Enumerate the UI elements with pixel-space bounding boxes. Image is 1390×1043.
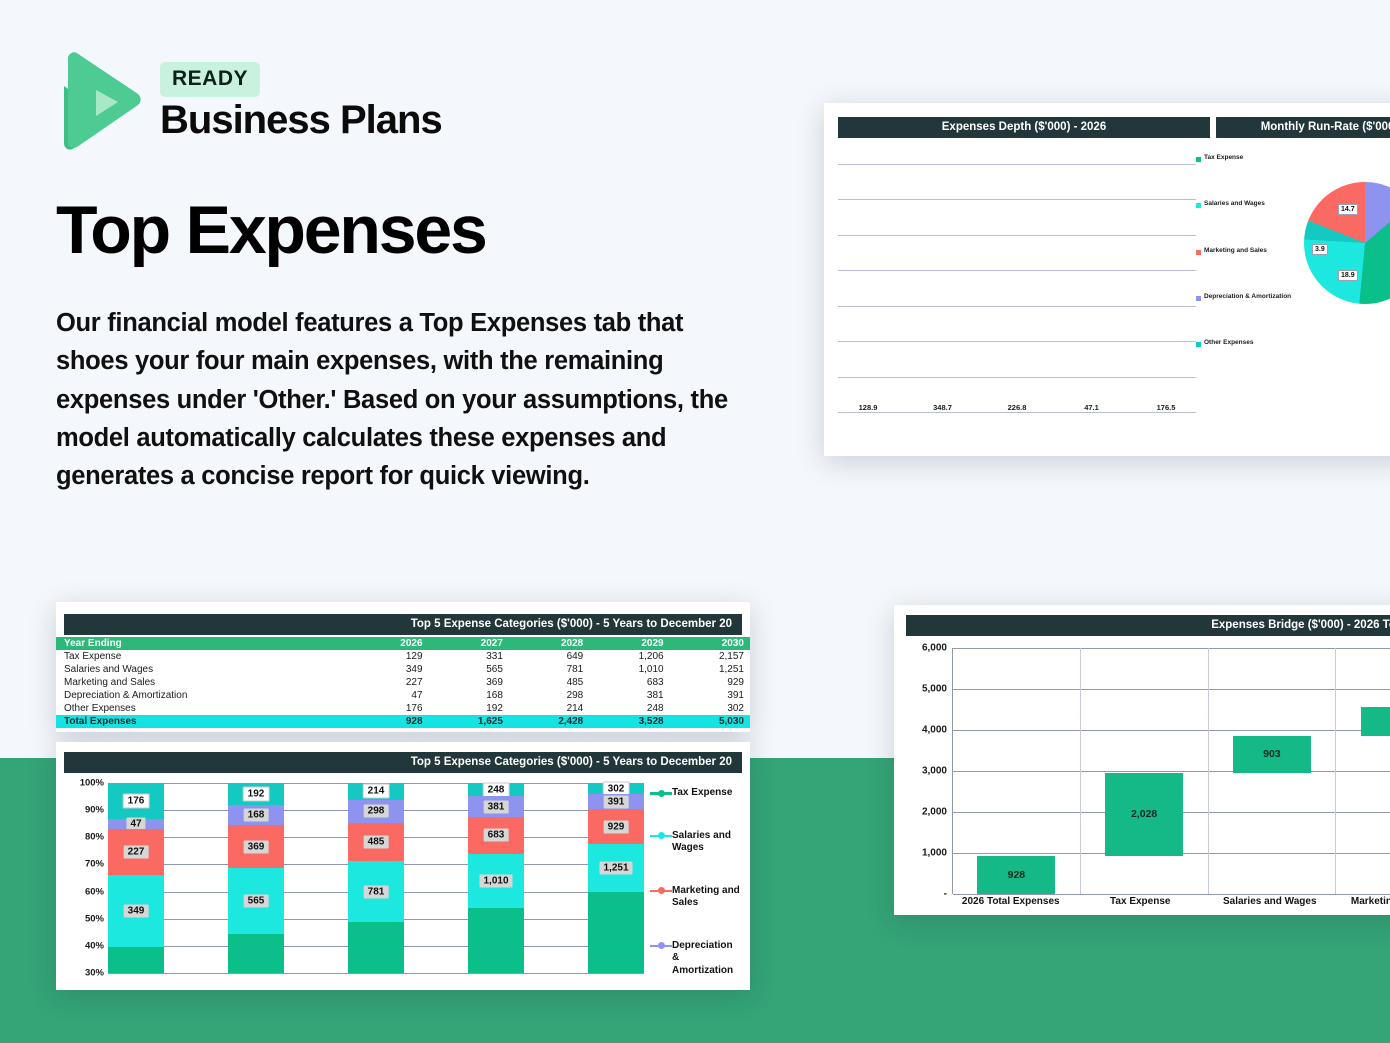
cell-value: 331 (429, 650, 509, 663)
cell-value: 47 (354, 689, 428, 702)
cell-value: 168 (429, 689, 509, 702)
gridline (953, 894, 1390, 895)
column-header: 2028 (509, 637, 589, 650)
bar-value-label: 2,028 (1131, 808, 1157, 820)
stack-segment-Salaries and Wages: 565 (228, 868, 284, 934)
table-row: Depreciation & Amortization4716829838139… (56, 689, 750, 702)
stacked-column-2027: 192168369565 (228, 783, 284, 973)
legend-swatch-icon (1196, 342, 1201, 347)
table-row: Tax Expense1293316491,2062,157 (56, 650, 750, 663)
segment-value-label: 214 (363, 784, 390, 799)
stack-segment-Tax Expense (468, 908, 524, 973)
cell-value: 683 (589, 676, 669, 689)
cell-value: 649 (509, 650, 589, 663)
stack-segment-Depreciation & Amortization: 47 (108, 819, 164, 829)
hero-description: Our financial model features a Top Expen… (56, 304, 746, 495)
bar-series: 128.9348.7226.847.1176.5 (838, 164, 1196, 412)
expenses-depth-card: Expenses Depth ($'000) - 2026 Monthly Ru… (824, 103, 1390, 456)
total-value: 928 (354, 715, 428, 728)
panel-title-row: Expenses Depth ($'000) - 2026 Monthly Ru… (824, 117, 1390, 138)
legend-swatch-icon (1196, 296, 1201, 301)
top5-table-title: Top 5 Expense Categories ($'000) - 5 Yea… (64, 614, 742, 635)
legend-item-2: Marketing and Sales (1196, 247, 1294, 256)
top5-expense-table-card: Top 5 Expense Categories ($'000) - 5 Yea… (56, 602, 750, 732)
stack-segment-Depreciation & Amortization: 391 (588, 794, 644, 809)
column-header: 2030 (670, 637, 750, 650)
stacked-columns: 1764722734919216836956521429848578124838… (108, 783, 644, 973)
legend-swatch-icon (1196, 203, 1201, 208)
bridge-title: Expenses Bridge ($'000) - 2026 Total Exp… (906, 615, 1390, 636)
x-tick-label: 2026 Total Expenses (946, 896, 1076, 907)
table-row: Other Expenses176192214248302 (56, 702, 750, 715)
stacked-plot-area: 1764722734919216836956521429848578124838… (108, 783, 644, 973)
segment-value-label: 485 (364, 836, 389, 849)
legend-marker-icon (650, 940, 672, 952)
segment-value-label: 1,251 (599, 861, 632, 874)
monthly-runrate-pie-chart: 10.7 14.7 3.9 18.9 (1294, 148, 1390, 426)
stack-segment-Other Expenses: 192 (228, 783, 284, 805)
segment-value-label: 349 (124, 904, 149, 917)
row-label: Salaries and Wages (56, 663, 354, 676)
row-label: Depreciation & Amortization (56, 689, 354, 702)
cell-value: 192 (429, 702, 509, 715)
total-value: 3,528 (589, 715, 669, 728)
stack-segment-Other Expenses: 248 (468, 783, 524, 796)
cell-value: 349 (354, 663, 428, 676)
page-title: Top Expenses (56, 196, 756, 264)
ready-badge: READY (160, 62, 260, 97)
bridge-y-axis: 6,0005,0004,0003,0002,0001,000- (900, 648, 952, 894)
cell-value: 929 (670, 676, 750, 689)
stack-segment-Tax Expense (588, 892, 644, 973)
bar-value-label: 903 (1263, 748, 1281, 760)
total-value: 2,428 (509, 715, 589, 728)
total-value: 5,030 (670, 715, 750, 728)
y-tick-label: 4,000 (922, 725, 947, 736)
waterfall-bar: 903 (1233, 736, 1311, 773)
stack-segment-Salaries and Wages: 1,251 (588, 844, 644, 891)
stack-segment-Salaries and Wages: 1,010 (468, 854, 524, 908)
table-body: Tax Expense1293316491,2062,157Salaries a… (56, 650, 750, 728)
legend-item-2: Marketing and Sales (650, 885, 742, 910)
legend-marker-icon (650, 830, 672, 842)
monthly-runrate-title: Monthly Run-Rate ($'000) - (1216, 117, 1390, 138)
table-header-row: Year Ending20262027202820292030 (56, 637, 750, 650)
segment-value-label: 176 (123, 794, 150, 809)
y-tick-label: 2,000 (922, 807, 947, 818)
cell-value: 1,251 (670, 663, 750, 676)
table-total-row: Total Expenses9281,6252,4283,5285,030 (56, 715, 750, 728)
bar-value-label: 348.7 (915, 403, 971, 412)
pie-label-2: 3.9 (1312, 244, 1328, 255)
brand-name: Business Plans (160, 99, 442, 141)
x-tick-label: Tax Expense (1076, 896, 1206, 907)
hero-section: Top Expenses Our financial model feature… (56, 196, 756, 495)
top5-stacked-chart-card: Top 5 Expense Categories ($'000) - 5 Yea… (56, 742, 750, 990)
segment-value-label: 929 (604, 820, 629, 833)
legend-item-1: Salaries and Wages (1196, 200, 1294, 209)
stack-segment-Tax Expense (108, 947, 164, 973)
stack-segment-Depreciation & Amortization: 381 (468, 796, 524, 817)
legend-item-0: Tax Expense (1196, 154, 1294, 163)
cell-value: 391 (670, 689, 750, 702)
segment-value-label: 683 (484, 829, 509, 842)
expenses-depth-bar-chart: 128.9348.7226.847.1176.5 (838, 148, 1196, 426)
gridline (108, 973, 644, 974)
segment-value-label: 369 (244, 840, 269, 853)
segment-value-label: 1,010 (479, 874, 512, 887)
y-tick-label: 90% (85, 805, 104, 816)
expenses-depth-legend: Tax ExpenseSalaries and WagesMarketing a… (1196, 148, 1294, 348)
segment-value-label: 298 (364, 805, 389, 818)
bar-value-label: 47.1 (1064, 403, 1120, 412)
cell-value: 369 (429, 676, 509, 689)
pie-label-3: 18.9 (1338, 270, 1358, 281)
stacked-column-2028: 214298485781 (348, 783, 404, 973)
legend-item-3: Depreciation & Amortization (650, 940, 742, 978)
cell-value: 781 (509, 663, 589, 676)
segment-value-label: 192 (243, 787, 270, 802)
y-tick-label: 70% (85, 859, 104, 870)
waterfall-category-2: 903 (1209, 648, 1337, 894)
column-header: Year Ending (56, 637, 354, 650)
legend-swatch-icon (1196, 250, 1201, 255)
total-label: Total Expenses (56, 715, 354, 728)
total-value: 1,625 (429, 715, 509, 728)
stack-segment-Marketing and Sales: 227 (108, 829, 164, 875)
row-label: Other Expenses (56, 702, 354, 715)
y-tick-label: 60% (85, 886, 104, 897)
row-label: Marketing and Sales (56, 676, 354, 689)
legend-label: Tax Expense (672, 787, 732, 800)
y-tick-label: 3,000 (922, 766, 947, 777)
cell-value: 227 (354, 676, 428, 689)
legend-item-0: Tax Expense (650, 787, 742, 800)
stack-segment-Depreciation & Amortization: 168 (228, 805, 284, 825)
cell-value: 485 (509, 676, 589, 689)
bar-value-label: 928 (1008, 869, 1026, 881)
cell-value: 176 (354, 702, 428, 715)
stack-segment-Tax Expense (228, 934, 284, 973)
cell-value: 1,010 (589, 663, 669, 676)
y-tick-label: 5,000 (922, 684, 947, 695)
y-tick-label: 30% (85, 968, 104, 979)
cell-value: 129 (354, 650, 428, 663)
legend-marker-icon (650, 885, 672, 897)
y-tick-label: 100% (80, 778, 104, 789)
legend-label: Other Expenses (1204, 339, 1254, 348)
segment-value-label: 227 (124, 845, 149, 858)
legend-label: Depreciation & Amortization (672, 940, 742, 978)
segment-value-label: 381 (484, 800, 509, 813)
stack-segment-Marketing and Sales: 485 (348, 823, 404, 861)
column-header: 2026 (354, 637, 428, 650)
stack-segment-Other Expenses: 302 (588, 783, 644, 794)
play-triangle-logo-icon (56, 52, 144, 150)
waterfall-category-3: 702 (1336, 648, 1390, 894)
legend-label: Tax Expense (1204, 154, 1243, 163)
bar-value-label: 176.5 (1138, 403, 1194, 412)
top5-chart-title: Top 5 Expense Categories ($'000) - 5 Yea… (64, 752, 742, 773)
waterfall-bar: 2,028 (1105, 773, 1183, 856)
cell-value: 381 (589, 689, 669, 702)
waterfall-category-1: 2,028 (1081, 648, 1209, 894)
stack-segment-Salaries and Wages: 349 (108, 875, 164, 946)
y-tick-label: 1,000 (922, 848, 947, 859)
legend-item-3: Depreciation & Amortization (1196, 293, 1294, 302)
x-tick-label: Salaries and Wages (1205, 896, 1335, 907)
stack-segment-Marketing and Sales: 683 (468, 817, 524, 854)
y-tick-label: 80% (85, 832, 104, 843)
table-row: Salaries and Wages3495657811,0101,251 (56, 663, 750, 676)
waterfall-bars: 9282,028903702 (953, 648, 1390, 894)
legend-label: Salaries and Wages (1204, 200, 1265, 209)
stack-segment-Depreciation & Amortization: 298 (348, 800, 404, 823)
stacked-chart-legend: Tax ExpenseSalaries and WagesMarketing a… (644, 783, 742, 973)
waterfall-category-0: 928 (953, 648, 1081, 894)
segment-value-label: 391 (604, 795, 629, 808)
stacked-column-2029: 2483816831,010 (468, 783, 524, 973)
segment-value-label: 565 (244, 895, 269, 908)
stack-segment-Marketing and Sales: 929 (588, 809, 644, 844)
legend-label: Marketing and Sales (1204, 247, 1267, 256)
stack-segment-Salaries and Wages: 781 (348, 861, 404, 922)
brand-logo: READY Business Plans (56, 52, 442, 150)
legend-label: Salaries and Wages (672, 830, 742, 855)
pie-label-1: 14.7 (1338, 204, 1358, 215)
y-tick-label: 50% (85, 913, 104, 924)
cell-value: 248 (589, 702, 669, 715)
stacked-y-axis: 100%90%80%70%60%50%40%30% (62, 783, 108, 973)
bridge-plot-area: 9282,028903702 (952, 648, 1390, 894)
expense-table: Year Ending20262027202820292030 Tax Expe… (56, 637, 750, 728)
cell-value: 1,206 (589, 650, 669, 663)
waterfall-bar: 928 (977, 856, 1055, 894)
cell-value: 298 (509, 689, 589, 702)
stack-segment-Other Expenses: 214 (348, 783, 404, 800)
stack-segment-Tax Expense (348, 922, 404, 973)
column-header: 2029 (589, 637, 669, 650)
y-tick-label: 6,000 (922, 643, 947, 654)
y-tick-label: 40% (85, 940, 104, 951)
stack-segment-Marketing and Sales: 369 (228, 825, 284, 868)
segment-value-label: 168 (244, 809, 269, 822)
expenses-depth-title: Expenses Depth ($'000) - 2026 (838, 117, 1210, 138)
cell-value: 214 (509, 702, 589, 715)
stacked-column-2030: 3023919291,251 (588, 783, 644, 973)
x-tick-label: Marketing and Sales (1335, 896, 1390, 907)
stack-segment-Other Expenses: 176 (108, 783, 164, 819)
stacked-column-2026: 17647227349 (108, 783, 164, 973)
cell-value: 2,157 (670, 650, 750, 663)
pie-slices (1304, 182, 1390, 304)
waterfall-bar: 702 (1361, 707, 1390, 736)
bar-value-label: 226.8 (989, 403, 1045, 412)
legend-item-4: Other Expenses (1196, 339, 1294, 348)
y-tick-label: - (944, 889, 947, 900)
segment-value-label: 248 (483, 782, 510, 797)
bridge-x-axis-labels: 2026 Total ExpensesTax ExpenseSalaries a… (894, 896, 1390, 907)
legend-swatch-icon (1196, 157, 1201, 162)
table-row: Marketing and Sales227369485683929 (56, 676, 750, 689)
cell-value: 302 (670, 702, 750, 715)
legend-label: Marketing and Sales (672, 885, 742, 910)
segment-value-label: 781 (364, 885, 389, 898)
legend-marker-icon (650, 787, 672, 799)
row-label: Tax Expense (56, 650, 354, 663)
column-header: 2027 (429, 637, 509, 650)
legend-item-1: Salaries and Wages (650, 830, 742, 855)
expenses-bridge-card: Expenses Bridge ($'000) - 2026 Total Exp… (894, 605, 1390, 915)
bar-value-label: 128.9 (840, 403, 896, 412)
legend-label: Depreciation & Amortization (1204, 293, 1291, 302)
cell-value: 565 (429, 663, 509, 676)
